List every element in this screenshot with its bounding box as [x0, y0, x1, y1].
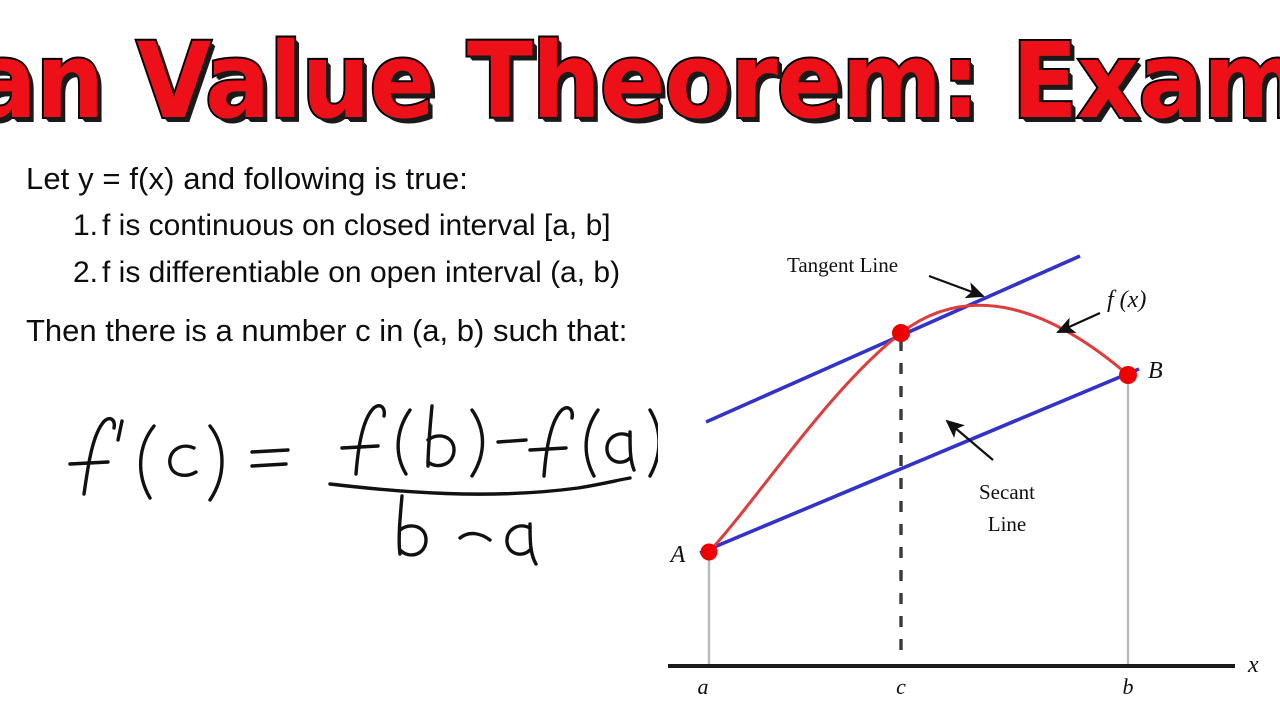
formula-num-minus — [498, 440, 526, 442]
secant-annotation-arrow — [947, 421, 993, 460]
formula-glyph-paren-open — [141, 426, 154, 498]
formula-den-b-stem — [399, 496, 402, 554]
point-marker-c — [892, 324, 910, 342]
formula-num-a-stem — [630, 432, 634, 470]
formula-glyph-equals-bottom — [252, 464, 286, 466]
list-item-number: 1. — [66, 209, 98, 243]
list-item-label: f is differentiable on open interval (a,… — [102, 256, 620, 289]
x-tick-label-a: a — [698, 674, 709, 699]
formula-num-f1 — [356, 406, 384, 474]
function-curve — [709, 305, 1128, 552]
formula-num-f1-bar — [342, 446, 378, 448]
formula-glyph-paren-close — [210, 426, 222, 500]
list-item-label: f is continuous on closed interval [a, b… — [102, 209, 611, 242]
function-annotation-arrow — [1058, 313, 1100, 332]
formula-glyph-f-bar — [70, 462, 108, 464]
handwritten-formula — [58, 392, 658, 567]
x-tick-label-b: b — [1123, 674, 1134, 699]
formula-svg — [58, 392, 658, 567]
point-label-b: B — [1148, 358, 1163, 384]
secant-annotation-label-line1: Secant — [979, 480, 1035, 504]
formula-num-a-bowl — [607, 434, 630, 462]
page-title: Mean Value Theorem: Example — [0, 29, 1280, 133]
formula-glyph-c — [170, 446, 196, 475]
function-annotation-label: f (x) — [1107, 287, 1146, 313]
formula-glyph-prime — [118, 421, 122, 440]
formula-num-f2-bar — [530, 448, 566, 450]
formula-fraction-bar — [330, 478, 630, 494]
title-banner: Mean Value Theorem: Example — [0, 18, 1280, 143]
formula-num-paren1-open — [398, 410, 410, 474]
formula-den-a-bowl — [507, 526, 530, 554]
point-label-a: A — [669, 542, 686, 568]
formula-num-paren2-open — [586, 410, 598, 476]
slide-canvas: Mean Value Theorem: Example Let y = f(x)… — [0, 0, 1280, 720]
secant-annotation-label-line2: Line — [988, 512, 1026, 536]
formula-glyph-equals-top — [252, 450, 288, 452]
diagram-svg: x a c b A B Tangent Line f (x) — [650, 228, 1280, 720]
formula-num-paren1-close — [472, 410, 483, 476]
point-marker-a — [701, 544, 718, 561]
lead-line: Let y = f(x) and following is true: — [26, 162, 796, 197]
formula-den-b-bowl — [400, 526, 426, 555]
formula-den-a-stem — [530, 524, 536, 564]
point-marker-b — [1119, 366, 1137, 384]
formula-glyph-f — [84, 419, 114, 494]
formula-num-f2 — [544, 408, 572, 476]
x-tick-label-c: c — [896, 674, 906, 699]
x-axis-label: x — [1247, 652, 1259, 678]
formula-num-b-bowl — [428, 436, 454, 466]
mvt-diagram: x a c b A B Tangent Line f (x) — [650, 228, 1280, 720]
tangent-annotation-arrow — [929, 276, 983, 296]
formula-den-minus — [460, 534, 490, 540]
tangent-line-annotation-label: Tangent Line — [787, 253, 898, 277]
list-item-number: 2. — [66, 256, 98, 290]
